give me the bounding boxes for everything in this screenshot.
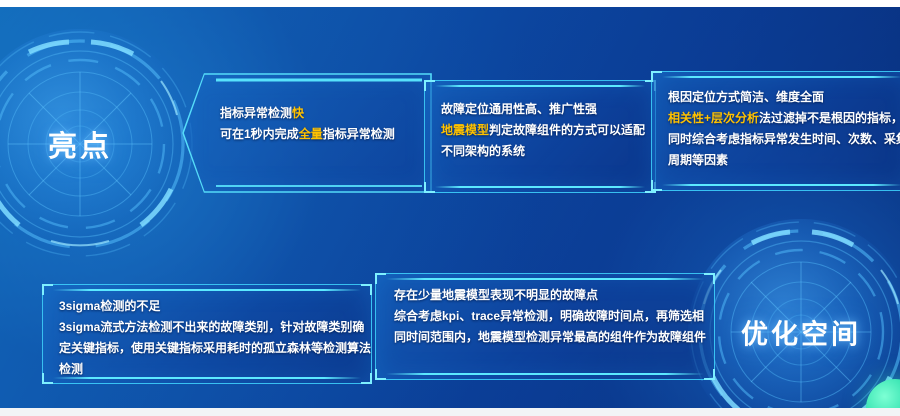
slide-canvas: 亮点 xyxy=(0,7,900,408)
box-2-text: 故障定位通用性高、推广性强 地震模型判定故障组件的方式可以适配不同架构的系统 xyxy=(425,81,655,162)
box-2-line1-pre: 故障定位通用性高、推广性强 xyxy=(441,102,597,116)
corner-tick-icon xyxy=(424,182,435,193)
radar-glow-left xyxy=(0,29,195,259)
highlight-box-root-cause[interactable]: 根因定位方式简洁、维度全面 相关性+层次分析法过滤掉不是根因的指标，同时综合考虑… xyxy=(651,71,900,191)
box-5-line1-pre: 存在少量地震模型表现不明显的故障点 xyxy=(394,288,598,302)
optimization-circle-label: 优化空间 xyxy=(688,313,900,352)
corner-tick-icon xyxy=(375,369,386,380)
box-5-line2-pre: 综合考虑kpi、trace异常检测，明确故障时间点，再筛选相同时间范围内，地震模… xyxy=(394,309,706,344)
radar-rings-left xyxy=(0,29,195,259)
highlight-radar-circle: 亮点 xyxy=(0,29,195,259)
slide-root: 亮点 xyxy=(0,0,900,416)
box-3-line1-pre: 根因定位方式简洁、维度全面 xyxy=(668,90,824,104)
highlight-box-fault-location[interactable]: 故障定位通用性高、推广性强 地震模型判定故障组件的方式可以适配不同架构的系统 xyxy=(424,80,656,193)
box-3-bottom-edge xyxy=(662,184,900,186)
corner-tick-icon xyxy=(704,369,715,380)
box-1-line1-highlight: 快 xyxy=(292,106,304,120)
top-margin-strip xyxy=(0,0,900,7)
highlight-box-fast-detection[interactable]: 指标异常检测快 可在1秒内完成全量指标异常检测 xyxy=(182,73,432,193)
box-5-text: 存在少量地震模型表现不明显的故障点 综合考虑kpi、trace异常检测，明确故障… xyxy=(376,274,714,348)
teal-accent-ball xyxy=(866,379,900,408)
box-2-line2-highlight: 地震模型 xyxy=(441,123,489,137)
optimization-box-3sigma[interactable]: 3sigma检测的不足 3sigma流式方法检测不出来的故障类别，针对故障类别确… xyxy=(42,284,372,384)
box-4-line2-pre: 3sigma流式方法检测不出来的故障类别，针对故障类别确定关键指标，使用关键指标… xyxy=(59,320,371,376)
box-1-line2-post: 指标异常检测 xyxy=(323,127,395,141)
box-3-text: 根因定位方式简洁、维度全面 相关性+层次分析法过滤掉不是根因的指标，同时综合考虑… xyxy=(652,72,900,171)
highlight-circle-label: 亮点 xyxy=(0,123,195,165)
box-1-text: 指标异常检测快 可在1秒内完成全量指标异常检测 xyxy=(182,73,432,145)
radar-rings-right xyxy=(688,219,900,408)
bottom-margin-strip xyxy=(0,408,900,416)
box-4-line1-pre: 3sigma检测的不足 xyxy=(59,299,160,313)
corner-tick-icon xyxy=(651,180,662,191)
box-1-line2-pre: 可在1秒内完成 xyxy=(220,127,299,141)
box-1-line2-highlight: 全量 xyxy=(299,127,323,141)
box-4-text: 3sigma检测的不足 3sigma流式方法检测不出来的故障类别，针对故障类别确… xyxy=(43,285,371,380)
radar-glow-right xyxy=(688,219,900,408)
optimization-box-seismic-model[interactable]: 存在少量地震模型表现不明显的故障点 综合考虑kpi、trace异常检测，明确故障… xyxy=(375,273,715,380)
box-3-line2-highlight: 相关性+层次分析 xyxy=(668,111,759,125)
box-5-bottom-edge xyxy=(386,373,704,375)
box-2-bottom-edge xyxy=(435,186,645,188)
box-1-line1-pre: 指标异常检测 xyxy=(220,106,292,120)
optimization-radar-circle: 优化空间 xyxy=(688,219,900,408)
